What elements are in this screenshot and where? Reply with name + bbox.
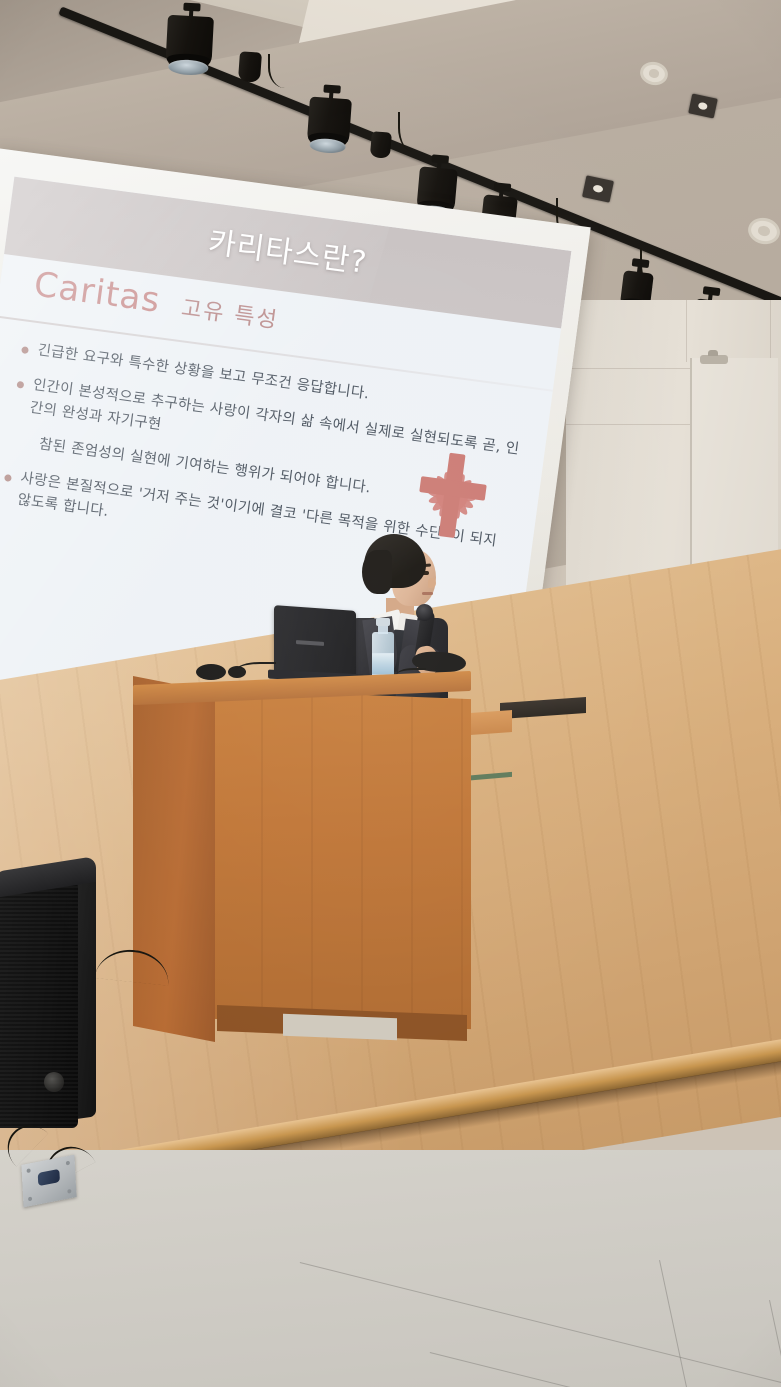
bullet-dot-icon [16, 381, 24, 389]
presenter-nose [428, 578, 436, 588]
presenter-hair-back [362, 550, 392, 594]
stage-spotlight [165, 15, 214, 73]
desk-cable [236, 662, 276, 676]
pa-loudspeaker [0, 856, 100, 1128]
speaker-brand-badge [44, 1072, 64, 1092]
podium-side-panel [133, 676, 215, 1042]
stage-spotlight-small [370, 131, 392, 159]
slide-subtitle-ko: 고유 특성 [180, 290, 281, 335]
wall-seam [566, 424, 690, 425]
door-lamp-icon [700, 355, 728, 364]
xlr-connector-icon [38, 1169, 60, 1186]
lectern-podium [133, 678, 473, 1050]
water-bottle [372, 618, 394, 682]
speaker-grille [0, 878, 78, 1128]
slide-subtitle-en: Caritas [32, 264, 163, 320]
podium-front-panel [213, 689, 471, 1029]
stage-spotlight-small [238, 51, 262, 82]
tile-floor [0, 1150, 781, 1387]
bottle-label [372, 653, 394, 674]
bullet-dot-icon [4, 474, 12, 482]
bottle-cap [376, 618, 390, 626]
lecture-hall-photo: 카리타스란? Caritas 고유 특성 긴급한 요구와 특수한 상황을 보고 … [0, 0, 781, 1387]
stage-spotlight [306, 97, 352, 152]
bullet-dot-icon [21, 346, 29, 354]
wall-seam [566, 368, 690, 369]
presenter-mouth [422, 592, 433, 595]
wall-seam [686, 300, 687, 362]
podium-base-notch [283, 1014, 397, 1041]
caritas-cross-logo [408, 445, 495, 546]
